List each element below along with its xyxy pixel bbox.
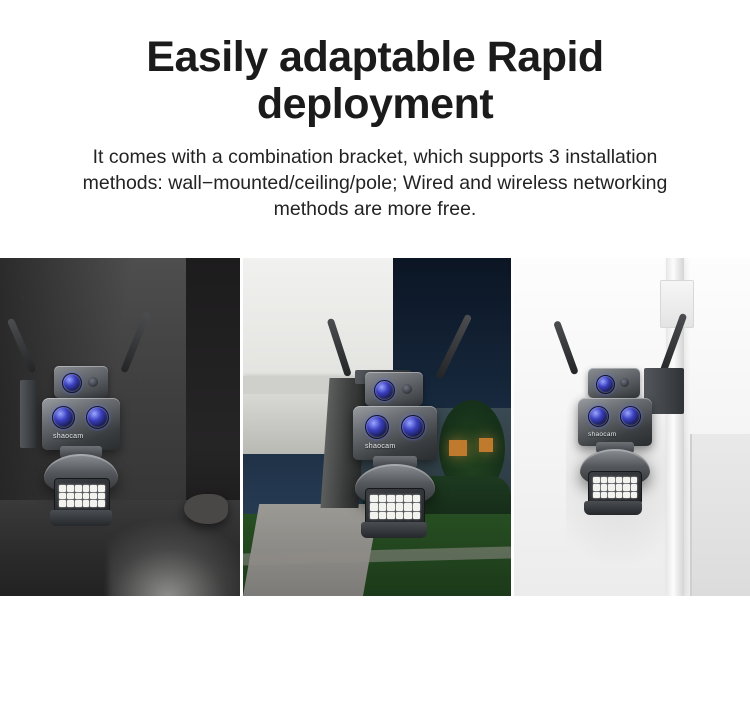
led <box>608 492 615 498</box>
camera-top-module <box>54 366 108 398</box>
led <box>83 500 90 507</box>
camera-top-module <box>365 372 423 406</box>
camera-head-body: shaocam <box>578 398 652 446</box>
lens-top <box>596 375 615 394</box>
led <box>601 492 608 498</box>
led <box>601 477 608 483</box>
scene-wall-panel <box>690 434 750 596</box>
led <box>83 485 90 492</box>
led <box>616 492 623 498</box>
camera-top-module <box>588 368 640 398</box>
led <box>98 500 105 507</box>
led <box>59 493 66 500</box>
lens-right <box>86 406 109 429</box>
camera-device-ceiling: shaocam <box>331 312 461 548</box>
camera-base <box>50 510 112 526</box>
led <box>616 484 623 490</box>
image-gallery: shaocam <box>0 258 750 596</box>
led <box>608 484 615 490</box>
ir-led-top <box>620 378 629 387</box>
led <box>370 512 378 519</box>
led <box>379 495 387 502</box>
product-banner: Easily adaptable Rapid deployment It com… <box>0 0 750 705</box>
led <box>631 492 638 498</box>
led <box>413 495 421 502</box>
gallery-panel-wall-mounted: shaocam <box>0 258 240 596</box>
page-subtitle: It comes with a combination bracket, whi… <box>55 144 695 222</box>
led <box>59 485 66 492</box>
led <box>404 495 412 502</box>
floodlight-led-array <box>593 477 637 498</box>
led <box>90 493 97 500</box>
header-block: Easily adaptable Rapid deployment It com… <box>0 0 750 222</box>
camera-head-body: shaocam <box>353 406 437 460</box>
led <box>90 485 97 492</box>
lens-right <box>401 415 425 439</box>
led <box>396 503 404 510</box>
camera-base <box>361 522 427 538</box>
led <box>404 512 412 519</box>
camera-lower-module <box>365 488 425 526</box>
camera-lower-module <box>54 478 110 514</box>
page-title: Easily adaptable Rapid deployment <box>65 34 685 128</box>
camera-device-wall: shaocam <box>24 314 144 534</box>
led <box>404 503 412 510</box>
lens-left <box>365 415 389 439</box>
led <box>67 500 74 507</box>
antenna-left-icon <box>327 318 352 377</box>
camera-head-body: shaocam <box>42 398 120 450</box>
led <box>59 500 66 507</box>
ir-led-top <box>402 384 412 394</box>
led <box>387 495 395 502</box>
led <box>631 484 638 490</box>
led <box>608 477 615 483</box>
led <box>379 503 387 510</box>
lens-top <box>62 373 82 393</box>
wall-mount-bracket <box>20 380 36 448</box>
led <box>98 485 105 492</box>
led <box>593 477 600 483</box>
led <box>593 484 600 490</box>
gallery-panel-pole-mounted: shaocam <box>514 258 750 596</box>
led <box>90 500 97 507</box>
camera-device-pole: shaocam <box>562 312 686 512</box>
led <box>75 493 82 500</box>
led <box>396 512 404 519</box>
gallery-panel-ceiling-mounted: shaocam <box>243 258 511 596</box>
led <box>616 477 623 483</box>
floodlight-led-array <box>59 485 105 507</box>
led <box>413 503 421 510</box>
scene-window-2 <box>479 438 493 452</box>
led <box>98 493 105 500</box>
led <box>370 495 378 502</box>
camera-lower-module <box>588 471 642 505</box>
led <box>370 503 378 510</box>
lens-top <box>374 380 395 401</box>
led <box>83 493 90 500</box>
led <box>601 484 608 490</box>
led <box>67 485 74 492</box>
led <box>379 512 387 519</box>
floodlight-led-array <box>370 495 420 519</box>
ir-led-top <box>88 377 98 387</box>
led <box>387 503 395 510</box>
led <box>623 484 630 490</box>
led <box>75 485 82 492</box>
led <box>631 477 638 483</box>
brand-label: shaocam <box>53 433 84 440</box>
led <box>387 512 395 519</box>
led <box>623 477 630 483</box>
lens-left <box>588 406 609 427</box>
brand-label: shaocam <box>588 431 616 438</box>
led <box>396 495 404 502</box>
brand-label: shaocam <box>365 443 396 450</box>
camera-base <box>584 501 642 515</box>
led <box>413 512 421 519</box>
lens-left <box>52 406 75 429</box>
led <box>623 492 630 498</box>
led <box>593 492 600 498</box>
scene-wall-lower <box>243 394 329 454</box>
led <box>75 500 82 507</box>
led <box>67 493 74 500</box>
lens-right <box>620 406 641 427</box>
